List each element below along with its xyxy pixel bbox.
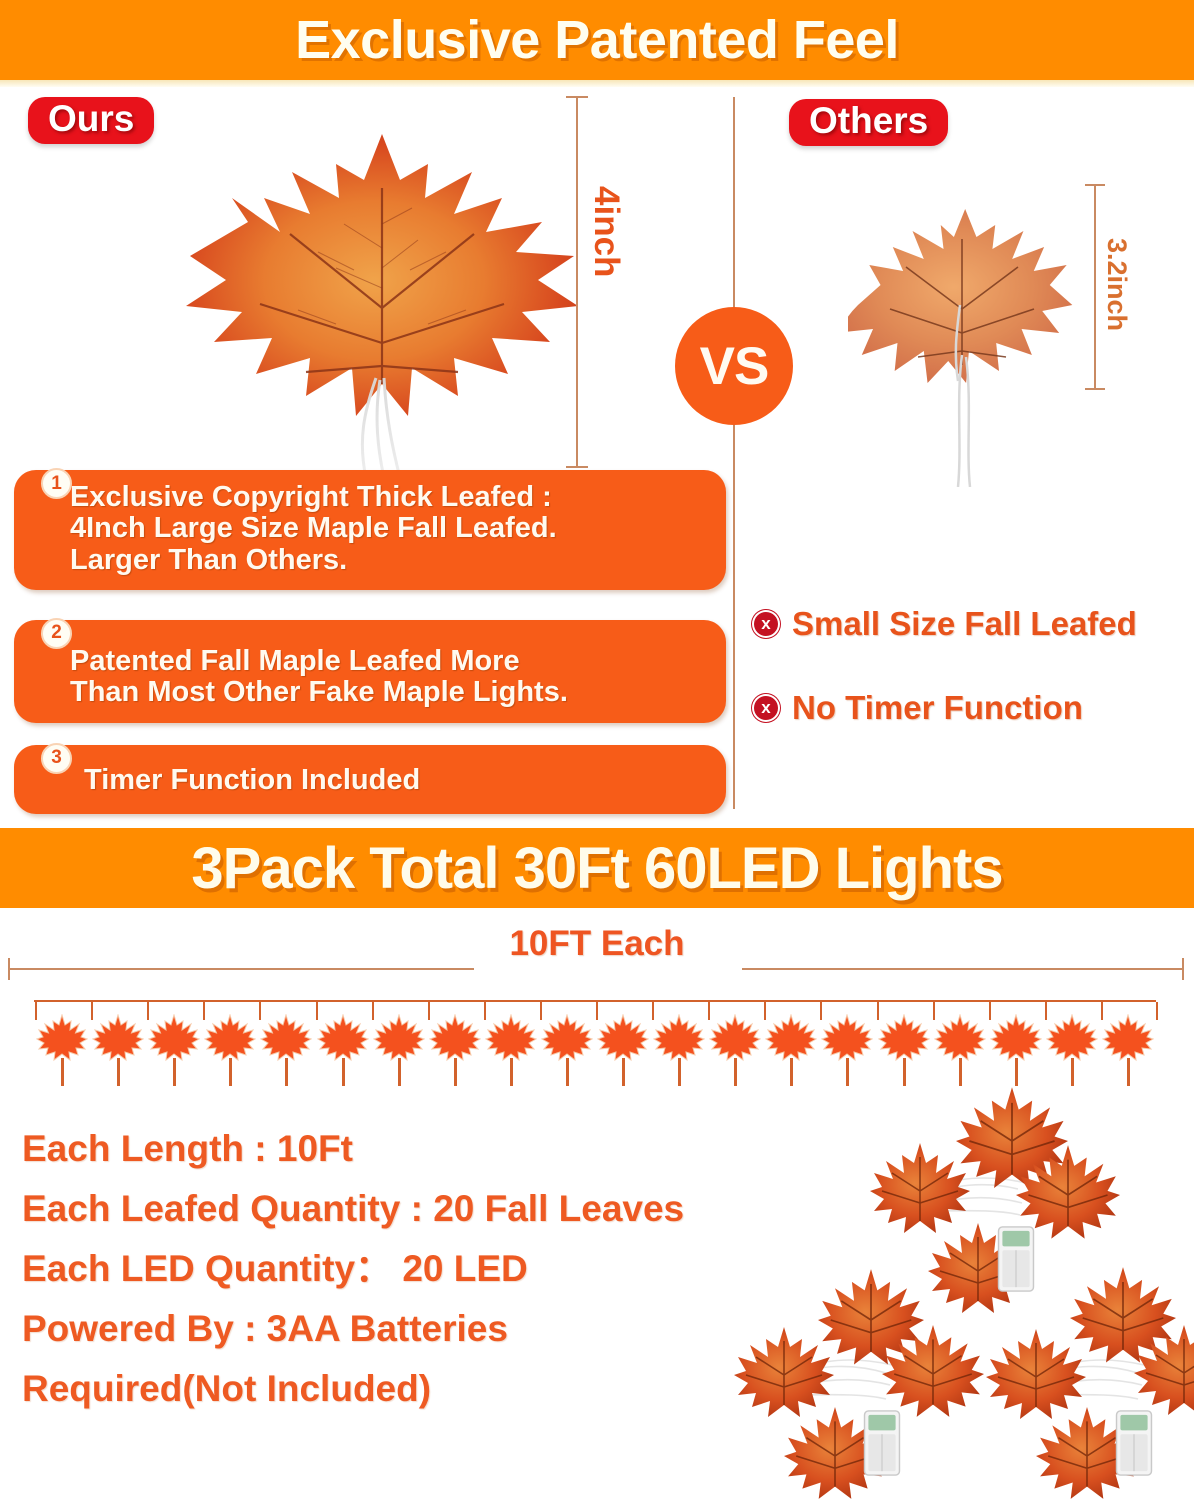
maple-leaf-icon (1102, 1014, 1154, 1064)
maple-leaf-icon (709, 1014, 761, 1064)
pro-line-1-1: Exclusive Copyright Thick Leafed : (70, 482, 710, 513)
top-banner-underline (0, 80, 1194, 87)
maple-leaf-icon (821, 1014, 873, 1064)
others-dimension-line (1094, 184, 1096, 390)
vertical-divider (733, 97, 735, 809)
others-badge: Others (789, 99, 948, 146)
ours-dimension-label: 4inch (586, 186, 626, 277)
maple-leaf-icon (1046, 1014, 1098, 1064)
con-item-1: x Small Size Fall Leafed (752, 605, 1182, 643)
ours-dimension-line (576, 96, 578, 468)
pro-line-2-1: Patented Fall Maple Leafed More (70, 646, 710, 677)
top-banner-title: Exclusive Patented Feel (295, 9, 899, 71)
maple-leaf-icon (990, 1014, 1042, 1064)
product-bundles (700, 1085, 1194, 1500)
others-dimension-cap-bottom (1085, 388, 1105, 390)
maple-leaf-icon (373, 1014, 425, 1064)
pro-line-2-2: Than Most Other Fake Maple Lights. (70, 677, 710, 708)
length-arrow-right (742, 968, 1184, 970)
maple-leaf-icon (653, 1014, 705, 1064)
maple-leaf-icon (260, 1014, 312, 1064)
mid-banner-title: 3Pack Total 30Ft 60LED Lights (191, 835, 1002, 902)
ours-badge: Ours (28, 97, 154, 144)
ours-dimension-cap-top (566, 96, 588, 98)
maple-leaf-icon (317, 1014, 369, 1064)
bundle-3 (986, 1267, 1194, 1499)
maple-leaf-icon (148, 1014, 200, 1064)
pro-item-3: 3 Timer Function Included (14, 745, 726, 814)
cons-list: x Small Size Fall Leafed x No Timer Func… (752, 605, 1182, 773)
maple-leaf-icon (765, 1014, 817, 1064)
bundle-group-svg (700, 1085, 1194, 1500)
maple-leaf-icon (92, 1014, 144, 1064)
maple-leaf-icon (429, 1014, 481, 1064)
product-infographic: Exclusive Patented Feel Ours Others (0, 0, 1194, 1500)
ours-maple-leaf-photo (186, 128, 578, 478)
bundle-1 (870, 1087, 1120, 1313)
maple-leaf-icon (597, 1014, 649, 1064)
pro-line-1-3: Larger Than Others. (70, 545, 710, 576)
length-arrow-left (8, 968, 474, 970)
maple-leaf-icon (541, 1014, 593, 1064)
ruler-tick (1156, 1002, 1158, 1020)
con-item-2: x No Timer Function (752, 689, 1182, 727)
length-label: 10FT Each (0, 924, 1194, 964)
pro-number-3: 3 (41, 743, 72, 774)
ours-dimension-cap-bottom (566, 466, 588, 468)
leaf-ruler-bar (34, 1000, 1156, 1002)
pro-item-2: 2 Patented Fall Maple Leafed More Than M… (14, 620, 726, 723)
pro-item-1: 1 Exclusive Copyright Thick Leafed : 4In… (14, 470, 726, 590)
mid-banner: 3Pack Total 30Ft 60LED Lights (0, 828, 1194, 908)
maple-leaf-icon (934, 1014, 986, 1064)
pro-pill-3: Timer Function Included (14, 745, 726, 814)
pro-number-2: 2 (41, 618, 72, 649)
pro-pill-2: Patented Fall Maple Leafed More Than Mos… (14, 620, 726, 723)
vs-circle: VS (675, 307, 793, 425)
con-text-1: Small Size Fall Leafed (792, 605, 1137, 643)
pro-line-1-2: 4Inch Large Size Maple Fall Leafed. (70, 513, 710, 544)
pros-list: 1 Exclusive Copyright Thick Leafed : 4In… (14, 470, 726, 814)
maple-leaf-icon (485, 1014, 537, 1064)
top-banner: Exclusive Patented Feel (0, 0, 1194, 80)
x-mark-icon: x (752, 610, 780, 638)
con-text-2: No Timer Function (792, 689, 1083, 727)
maple-leaf-icon (878, 1014, 930, 1064)
others-maple-leaf-photo (848, 205, 1076, 487)
maple-leaf-icon (36, 1014, 88, 1064)
pro-line-3-1: Timer Function Included (84, 765, 710, 796)
pro-number-1: 1 (41, 468, 72, 499)
pro-pill-1: Exclusive Copyright Thick Leafed : 4Inch… (14, 470, 726, 590)
x-mark-icon: x (752, 694, 780, 722)
maple-leaf-icon (204, 1014, 256, 1064)
bundle-2 (734, 1269, 984, 1499)
others-dimension-cap-top (1085, 184, 1105, 186)
others-dimension-label: 3.2inch (1101, 238, 1132, 331)
